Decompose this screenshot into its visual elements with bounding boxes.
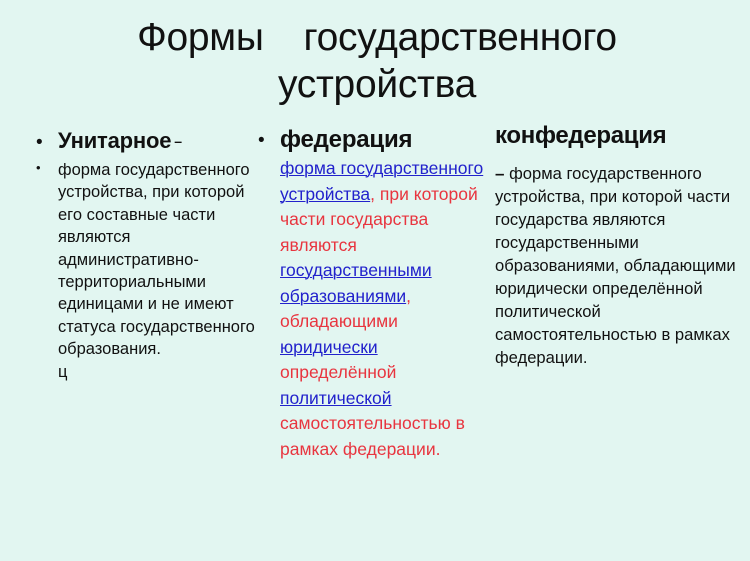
page-title: Формыгосударственного устройства	[62, 14, 692, 108]
confederation-body: – форма государственного устройства, при…	[495, 162, 743, 369]
unitary-heading-dash: –	[174, 133, 182, 149]
confederation-heading: конфедерация	[495, 122, 743, 150]
bullet-icon: •	[36, 154, 58, 174]
title-word-formy: Формы	[137, 16, 263, 59]
column-federation: • федерация форма государственного устро…	[258, 126, 493, 462]
federation-heading: федерация	[280, 126, 493, 154]
federation-heading-row: • федерация	[258, 126, 493, 154]
unitary-body-text: форма государственного устройства, при к…	[58, 161, 255, 358]
federation-link-run[interactable]: юридически	[280, 337, 378, 357]
column-unitary: • Унитарное– • форма государственного ус…	[36, 128, 258, 383]
unitary-trailing-char: ц	[58, 361, 258, 383]
unitary-body-row: • форма государственного устройства, при…	[36, 154, 258, 383]
bullet-icon: •	[36, 128, 58, 152]
confederation-lead-dash: –	[495, 164, 504, 183]
slide-canvas: Формыгосударственного устройства • Унита…	[0, 0, 750, 561]
federation-body: форма государственного устройства, при к…	[258, 156, 493, 462]
unitary-heading-text: Унитарное	[58, 128, 171, 153]
federation-text-run: обладающими	[280, 311, 398, 331]
confederation-body-text: форма государственного устройства, при к…	[495, 164, 736, 367]
bullet-icon: •	[258, 126, 280, 150]
federation-text-run: ,	[370, 184, 380, 204]
title-word-gosudarstvennogo: государственного	[304, 16, 617, 59]
federation-text-run: определённой	[280, 362, 396, 382]
federation-text-run: ,	[406, 286, 411, 306]
unitary-heading-row: • Унитарное–	[36, 128, 258, 154]
title-word-ustroystva: устройства	[278, 63, 476, 106]
federation-text-run: самостоятельностью в рамках федерации.	[280, 413, 465, 459]
federation-link-run[interactable]: политической	[280, 388, 392, 408]
unitary-heading: Унитарное–	[58, 128, 258, 154]
unitary-body: форма государственного устройства, при к…	[58, 159, 258, 383]
column-confederation: конфедерация – форма государственного ус…	[495, 122, 743, 369]
